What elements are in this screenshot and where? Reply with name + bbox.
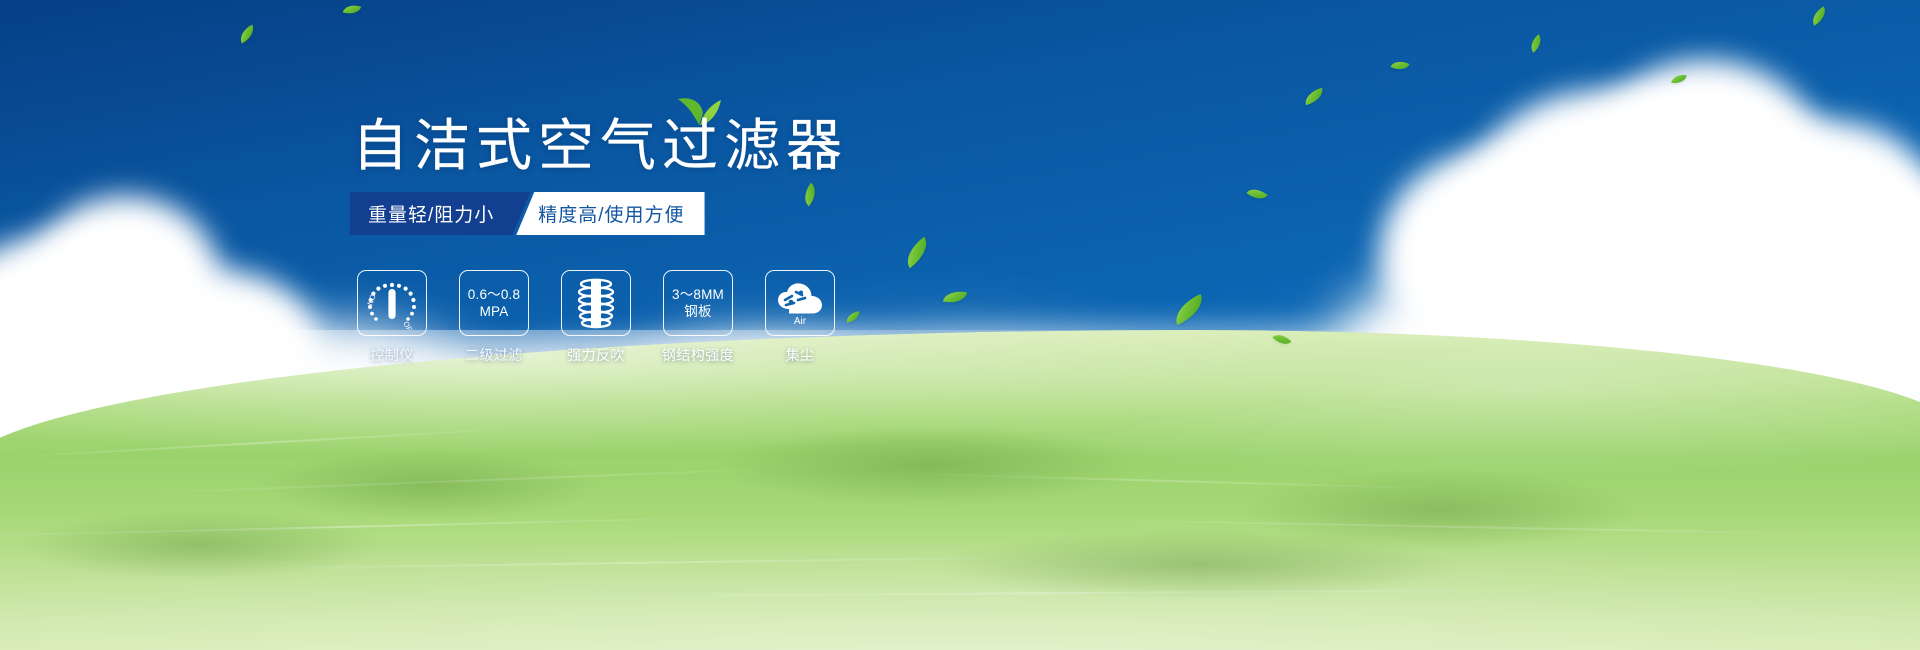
feature-icon-box: 3～8MM 钢板 bbox=[663, 270, 733, 336]
banner-content: 自洁式空气过滤器 重量轻/阻力小 精度高/使用方便 bbox=[0, 0, 1920, 650]
page-title: 自洁式空气过滤器 bbox=[352, 118, 848, 174]
feature-icon-box bbox=[561, 270, 631, 336]
feature-label: 钢结构强度 bbox=[662, 345, 735, 365]
steel-thickness-text: 3～8MM bbox=[672, 286, 724, 303]
feature-item-backblow[interactable]: 强力反吹 bbox=[560, 270, 632, 365]
feature-icon-box: NO OFF bbox=[357, 270, 427, 336]
feature-item-steel[interactable]: 3～8MM 钢板 钢结构强度 bbox=[662, 270, 734, 365]
air-label-text: Air bbox=[794, 316, 807, 327]
svg-text:NO: NO bbox=[365, 293, 377, 307]
steel-plate-icon: 3～8MM 钢板 bbox=[672, 286, 724, 321]
feature-tabs: 重量轻/阻力小 精度高/使用方便 bbox=[350, 192, 705, 235]
feature-icon-box: 0.6～0.8 MPA bbox=[459, 270, 529, 336]
steel-material-text: 钢板 bbox=[672, 303, 724, 320]
gauge-dial-icon: NO OFF bbox=[363, 276, 421, 330]
feature-icon-box: Air bbox=[765, 270, 835, 336]
feature-label: 集尘 bbox=[786, 345, 815, 365]
feature-item-controller[interactable]: NO OFF 控制仪 bbox=[356, 270, 428, 365]
pressure-value-icon: 0.6～0.8 MPA bbox=[468, 286, 520, 321]
tab-weight-resistance[interactable]: 重量轻/阻力小 bbox=[350, 192, 530, 235]
feature-label: 控制仪 bbox=[370, 345, 414, 365]
pressure-range-text: 0.6～0.8 bbox=[468, 286, 520, 303]
air-cloud-icon: Air bbox=[772, 279, 828, 327]
feature-label: 二级过滤 bbox=[465, 345, 523, 365]
pressure-unit-text: MPA bbox=[468, 303, 520, 320]
feature-item-dust[interactable]: Air 集尘 bbox=[764, 270, 836, 365]
tab-precision-convenience[interactable]: 精度高/使用方便 bbox=[516, 192, 704, 235]
svg-text:OFF: OFF bbox=[401, 320, 416, 330]
feature-item-pressure[interactable]: 0.6～0.8 MPA 二级过滤 bbox=[458, 270, 530, 365]
feature-label: 强力反吹 bbox=[567, 345, 625, 365]
filter-stack-icon bbox=[571, 277, 621, 329]
hero-banner: 自洁式空气过滤器 重量轻/阻力小 精度高/使用方便 bbox=[0, 0, 1920, 650]
feature-icon-row: NO OFF 控制仪 0.6～0.8 MPA 二级过滤 bbox=[356, 270, 836, 365]
